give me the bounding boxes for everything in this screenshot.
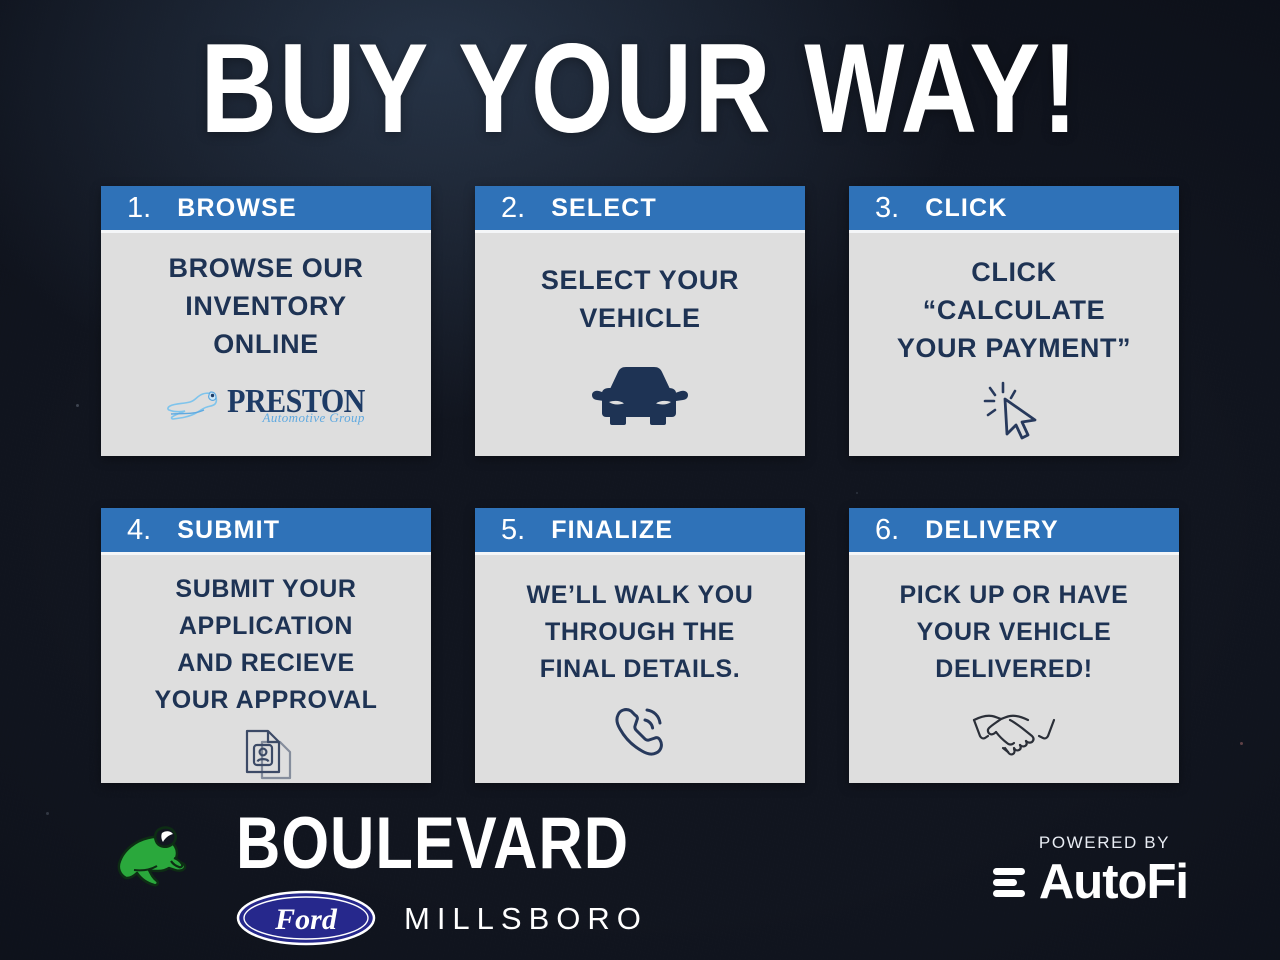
step-header: 4. SUBMIT [101,508,431,555]
step-line: SELECT YOUR [487,261,793,299]
step-line: YOUR VEHICLE [861,614,1167,651]
dust-speck [76,404,79,407]
step-body: CLICK “CALCULATE YOUR PAYMENT” [849,233,1179,456]
step-body: BROWSE OUR INVENTORY ONLINE PRESTON Auto… [101,233,431,456]
phone-ringing-icon [487,688,793,773]
powered-by-label: POWERED BY [1039,834,1170,851]
dealer-brand: BOULEVARD Ford MILLSBORO [112,808,648,946]
step-line: DELIVERED! [861,651,1167,688]
step-title: DELIVERY [925,518,1059,543]
step-number: 3. [875,194,899,223]
step-body: SUBMIT YOUR APPLICATION AND RECIEVE YOUR… [101,555,431,783]
preston-wordmark: PRESTON [227,386,365,417]
step-header: 6. DELIVERY [849,508,1179,555]
step-line: APPLICATION [113,608,419,645]
step-card-finalize[interactable]: 5. FINALIZE WE’LL WALK YOU THROUGH THE F… [475,508,805,783]
step-header: 2. SELECT [475,186,805,233]
step-line: INVENTORY [113,287,419,325]
step-body: SELECT YOUR VEHICLE [475,233,805,456]
step-line: YOUR PAYMENT” [861,329,1167,367]
step-line: AND RECIEVE [113,645,419,682]
step-line: FINAL DETAILS. [487,651,793,688]
car-front-icon [487,337,793,446]
step-line: YOUR APPROVAL [113,682,419,719]
step-number: 2. [501,194,525,223]
step-body: PICK UP OR HAVE YOUR VEHICLE DELIVERED! [849,555,1179,783]
svg-text:Ford: Ford [274,903,338,936]
step-line: “CALCULATE [861,291,1167,329]
step-header: 3. CLICK [849,186,1179,233]
handshake-icon [861,688,1167,773]
cursor-click-icon [861,367,1167,446]
preston-frog-icon [167,386,223,426]
step-line: PICK UP OR HAVE [861,577,1167,614]
step-line: WE’LL WALK YOU [487,577,793,614]
step-card-select[interactable]: 2. SELECT SELECT YOUR VEHICLE [475,186,805,456]
step-card-delivery[interactable]: 6. DELIVERY PICK UP OR HAVE YOUR VEHICLE… [849,508,1179,783]
dealer-name: BOULEVARD [236,808,644,881]
step-card-browse[interactable]: 1. BROWSE BROWSE OUR INVENTORY ONLINE PR… [101,186,431,456]
step-title: SELECT [551,196,657,221]
step-card-submit[interactable]: 4. SUBMIT SUBMIT YOUR APPLICATION AND RE… [101,508,431,783]
step-title: CLICK [925,196,1007,221]
steps-grid: 1. BROWSE BROWSE OUR INVENTORY ONLINE PR… [101,186,1187,783]
step-body: WE’LL WALK YOU THROUGH THE FINAL DETAILS… [475,555,805,783]
step-card-click[interactable]: 3. CLICK CLICK “CALCULATE YOUR PAYMENT” [849,186,1179,456]
step-line: THROUGH THE [487,614,793,651]
step-header: 1. BROWSE [101,186,431,233]
step-number: 1. [127,194,151,223]
step-number: 5. [501,516,525,545]
autofi-wordmark: AutoFi [1039,858,1188,907]
autofi-bars-icon [991,860,1031,906]
application-document-icon [113,719,419,783]
step-number: 6. [875,516,899,545]
step-line: BROWSE OUR [113,249,419,287]
ford-oval-logo: Ford [236,890,376,946]
step-title: FINALIZE [551,518,673,543]
dealer-city: MILLSBORO [404,903,648,934]
footer: BOULEVARD Ford MILLSBORO POWERED BY Auto… [0,790,1280,960]
dust-speck [1240,742,1243,745]
step-line: CLICK [861,253,1167,291]
preston-automotive-group-logo: PRESTON Automotive Group [113,363,419,446]
page-title: BUY YOUR WAY! [0,26,1280,153]
autofi-badge: POWERED BY AutoFi [991,834,1188,907]
step-number: 4. [127,516,151,545]
step-line: VEHICLE [487,299,793,337]
step-title: SUBMIT [177,518,280,543]
boulevard-frog-icon [112,814,222,909]
step-line: ONLINE [113,325,419,363]
step-header: 5. FINALIZE [475,508,805,555]
step-line: SUBMIT YOUR [113,571,419,608]
step-title: BROWSE [177,196,297,221]
